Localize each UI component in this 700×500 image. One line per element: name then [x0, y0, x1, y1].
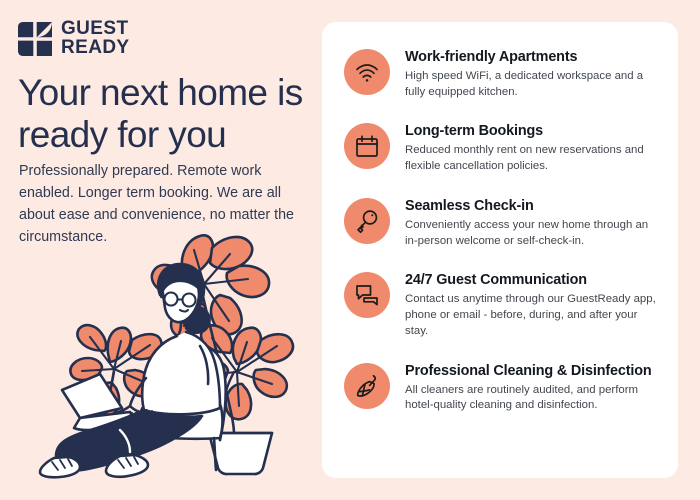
- feature-text: 24/7 Guest Communication Contact us anyt…: [405, 269, 662, 339]
- brand-wordmark: GUEST READY: [61, 20, 130, 57]
- brand-name-line-2: READY: [61, 39, 130, 58]
- feature-title: Long-term Bookings: [405, 122, 662, 140]
- page-title: Your next home is ready for you: [18, 72, 308, 156]
- calendar-icon: [344, 123, 390, 169]
- feature-description: Reduced monthly rent on new reservations…: [405, 143, 662, 174]
- hero-column: GUEST READY Your next home is ready for …: [0, 0, 320, 500]
- brand-logo[interactable]: GUEST READY: [18, 20, 130, 57]
- broom-icon: [344, 363, 390, 409]
- feature-description: Conveniently access your new home throug…: [405, 218, 662, 249]
- chat-bubbles-icon: [344, 272, 390, 318]
- marketing-page: GUEST READY Your next home is ready for …: [0, 0, 700, 500]
- brand-name-line-1: GUEST: [61, 20, 130, 39]
- feature-item-long-term-bookings[interactable]: Long-term Bookings Reduced monthly rent …: [344, 120, 662, 174]
- feature-title: 24/7 Guest Communication: [405, 271, 662, 289]
- feature-description: High speed WiFi, a dedicated workspace a…: [405, 69, 662, 100]
- feature-text: Professional Cleaning & Disinfection All…: [405, 360, 662, 414]
- feature-item-seamless-check-in[interactable]: Seamless Check-in Conveniently access yo…: [344, 195, 662, 249]
- feature-title: Professional Cleaning & Disinfection: [405, 362, 662, 380]
- feature-item-work-friendly-apartments[interactable]: Work-friendly Apartments High speed WiFi…: [344, 46, 662, 100]
- hero-illustration: [34, 222, 306, 484]
- feature-description: Contact us anytime through our GuestRead…: [405, 292, 662, 339]
- feature-text: Long-term Bookings Reduced monthly rent …: [405, 120, 662, 174]
- feature-text: Seamless Check-in Conveniently access yo…: [405, 195, 662, 249]
- feature-panel: Work-friendly Apartments High speed WiFi…: [322, 22, 678, 478]
- key-icon: [344, 198, 390, 244]
- wifi-icon: [344, 49, 390, 95]
- guestready-quadrant-logo-icon: [18, 22, 52, 56]
- feature-item-professional-cleaning[interactable]: Professional Cleaning & Disinfection All…: [344, 360, 662, 414]
- feature-title: Work-friendly Apartments: [405, 48, 662, 66]
- feature-description: All cleaners are routinely audited, and …: [405, 383, 662, 414]
- feature-item-guest-communication[interactable]: 24/7 Guest Communication Contact us anyt…: [344, 269, 662, 339]
- feature-text: Work-friendly Apartments High speed WiFi…: [405, 46, 662, 100]
- feature-title: Seamless Check-in: [405, 197, 662, 215]
